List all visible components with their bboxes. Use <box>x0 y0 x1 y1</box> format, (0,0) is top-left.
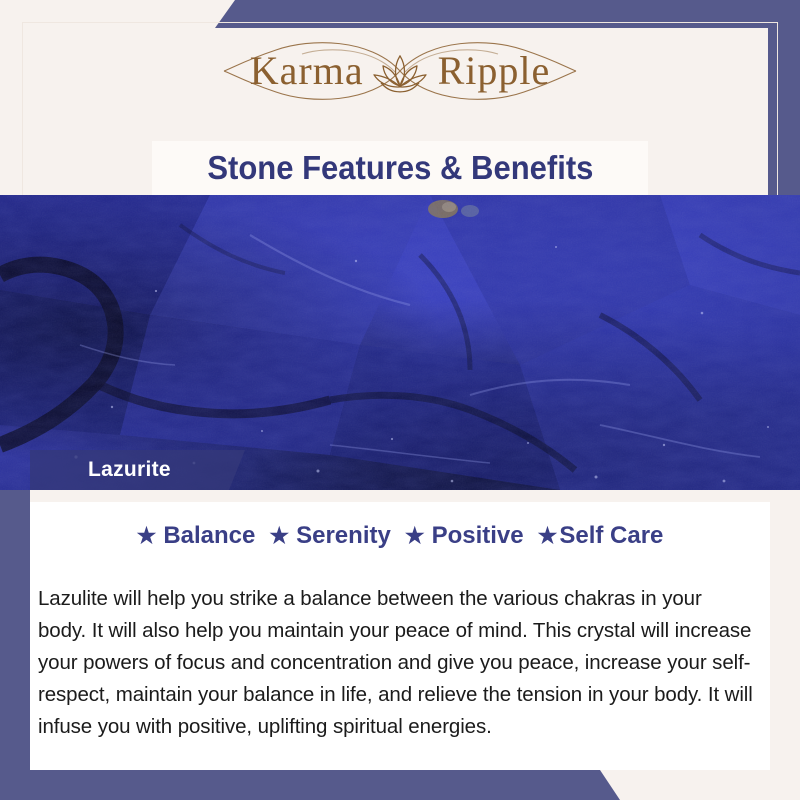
benefit-item-balance: ★ Balance <box>137 522 256 550</box>
star-icon: ★ <box>137 525 157 547</box>
benefits-list: ★ Balance ★ Serenity ★ Positive ★ Self C… <box>30 522 770 550</box>
benefit-label: Balance <box>163 522 255 550</box>
lotus-icon <box>369 50 431 96</box>
benefit-label: Self Care <box>559 522 663 550</box>
stone-name-band: Lazurite <box>30 450 245 490</box>
content-panel: ★ Balance ★ Serenity ★ Positive ★ Self C… <box>30 490 770 770</box>
decor-top-right-band <box>215 0 800 28</box>
star-icon: ★ <box>538 525 558 547</box>
benefit-label: Serenity <box>296 522 391 550</box>
section-title-band: Stone Features & Benefits <box>152 141 648 195</box>
stone-description: Lazulite will help you strike a balance … <box>38 583 754 743</box>
decor-left-strip <box>0 488 30 800</box>
brand-word-right: Ripple <box>438 51 551 91</box>
decor-bottom-band <box>0 770 620 800</box>
benefit-item-serenity: ★ Serenity <box>269 522 390 550</box>
brand-logo: Karma Ripple <box>0 32 800 110</box>
star-icon: ★ <box>405 525 425 547</box>
brand-word-left: Karma <box>250 51 364 91</box>
star-icon: ★ <box>269 525 289 547</box>
stone-photo <box>0 195 800 490</box>
benefit-item-positive: ★ Positive <box>405 522 524 550</box>
stone-info-card: Karma Ripple Stone Features & Benefits <box>0 0 800 800</box>
panel-top-strip <box>30 490 770 502</box>
stone-name: Lazurite <box>88 458 171 482</box>
page-title: Stone Features & Benefits <box>207 149 593 187</box>
benefit-item-self-care: ★ Self Care <box>538 522 664 550</box>
benefit-label: Positive <box>432 522 524 550</box>
stone-photo-texture <box>0 195 800 490</box>
